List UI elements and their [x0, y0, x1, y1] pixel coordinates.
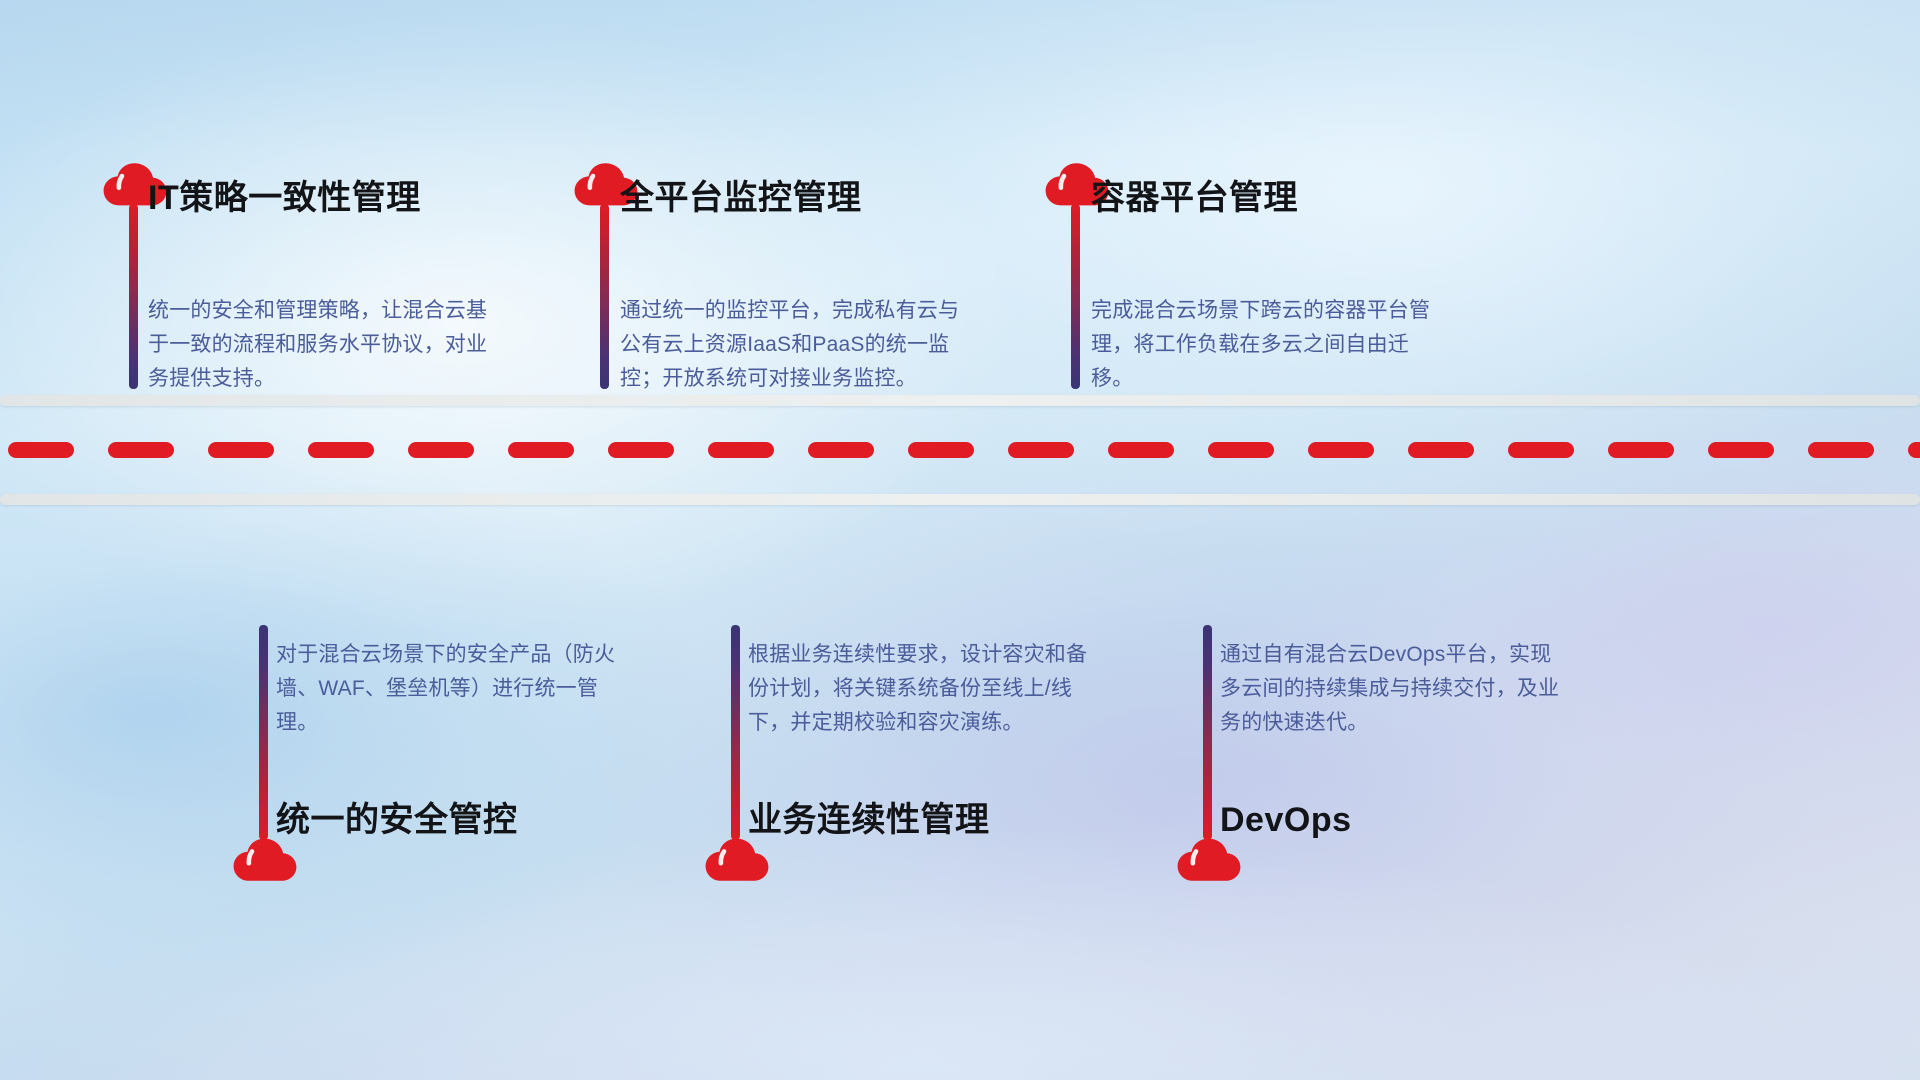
road-dash — [108, 442, 174, 458]
body-unified-security-control: 对于混合云场景下的安全产品（防火墙、WAF、堡垒机等）进行统一管理。 — [276, 638, 626, 740]
body-it-policy-consistency: 统一的安全和管理策略，让混合云基于一致的流程和服务水平协议，对业务提供支持。 — [148, 294, 498, 396]
background-vignette — [0, 0, 1920, 1080]
road-dash — [208, 442, 274, 458]
road-edge-bottom — [0, 494, 1920, 505]
heading-container-platform: 容器平台管理 — [1091, 178, 1298, 219]
background-base-gradient — [0, 0, 1920, 1080]
body-devops: 通过自有混合云DevOps平台，实现多云间的持续集成与持续交付，及业务的快速迭代… — [1220, 638, 1570, 740]
road-dash — [1908, 442, 1920, 458]
body-full-platform-monitoring: 通过统一的监控平台，完成私有云与公有云上资源IaaS和PaaS的统一监控；开放系… — [620, 294, 980, 396]
background-glow-lower-left — [0, 0, 1920, 1080]
heading-devops: DevOps — [1220, 800, 1352, 841]
road-divider — [0, 395, 1920, 505]
body-business-continuity: 根据业务连续性要求，设计容灾和备份计划，将关键系统备份至线上/线下，并定期校验和… — [748, 638, 1093, 740]
road-dash-row — [0, 441, 1920, 459]
road-dash — [1308, 442, 1374, 458]
road-dash — [308, 442, 374, 458]
road-edge-top — [0, 395, 1920, 406]
road-dash — [1508, 442, 1574, 458]
road-dash — [1808, 442, 1874, 458]
connector-stem — [259, 625, 268, 840]
connector-stem — [600, 204, 609, 389]
road-dash — [508, 442, 574, 458]
heading-full-platform-monitoring: 全平台监控管理 — [620, 178, 862, 219]
connector-stem — [1071, 204, 1080, 389]
road-dash — [8, 442, 74, 458]
road-dash — [1108, 442, 1174, 458]
heading-it-policy-consistency: IT策略一致性管理 — [148, 178, 421, 219]
heading-unified-security-control: 统一的安全管控 — [276, 800, 518, 841]
road-dash — [708, 442, 774, 458]
road-dash — [1608, 442, 1674, 458]
background-glow-upper-right — [0, 0, 1920, 1080]
background-glow-bottom — [0, 0, 1920, 1080]
connector-stem — [129, 204, 138, 389]
background-glow-upper-left — [0, 0, 1920, 1080]
infographic-canvas: IT策略一致性管理 统一的安全和管理策略，让混合云基于一致的流程和服务水平协议，… — [0, 0, 1920, 1080]
heading-business-continuity: 业务连续性管理 — [748, 800, 990, 841]
connector-stem — [1203, 625, 1212, 840]
road-dash — [1708, 442, 1774, 458]
road-dash — [408, 442, 474, 458]
connector-stem — [731, 625, 740, 840]
body-container-platform: 完成混合云场景下跨云的容器平台管理，将工作负载在多云之间自由迁移。 — [1091, 294, 1451, 396]
road-dash — [908, 442, 974, 458]
road-dash — [608, 442, 674, 458]
road-dash — [1208, 442, 1274, 458]
road-dash — [1008, 442, 1074, 458]
background-glow-lower-center — [0, 0, 1920, 1080]
background-glow-lower-right — [0, 0, 1920, 1080]
road-dash — [808, 442, 874, 458]
road-dash — [1408, 442, 1474, 458]
